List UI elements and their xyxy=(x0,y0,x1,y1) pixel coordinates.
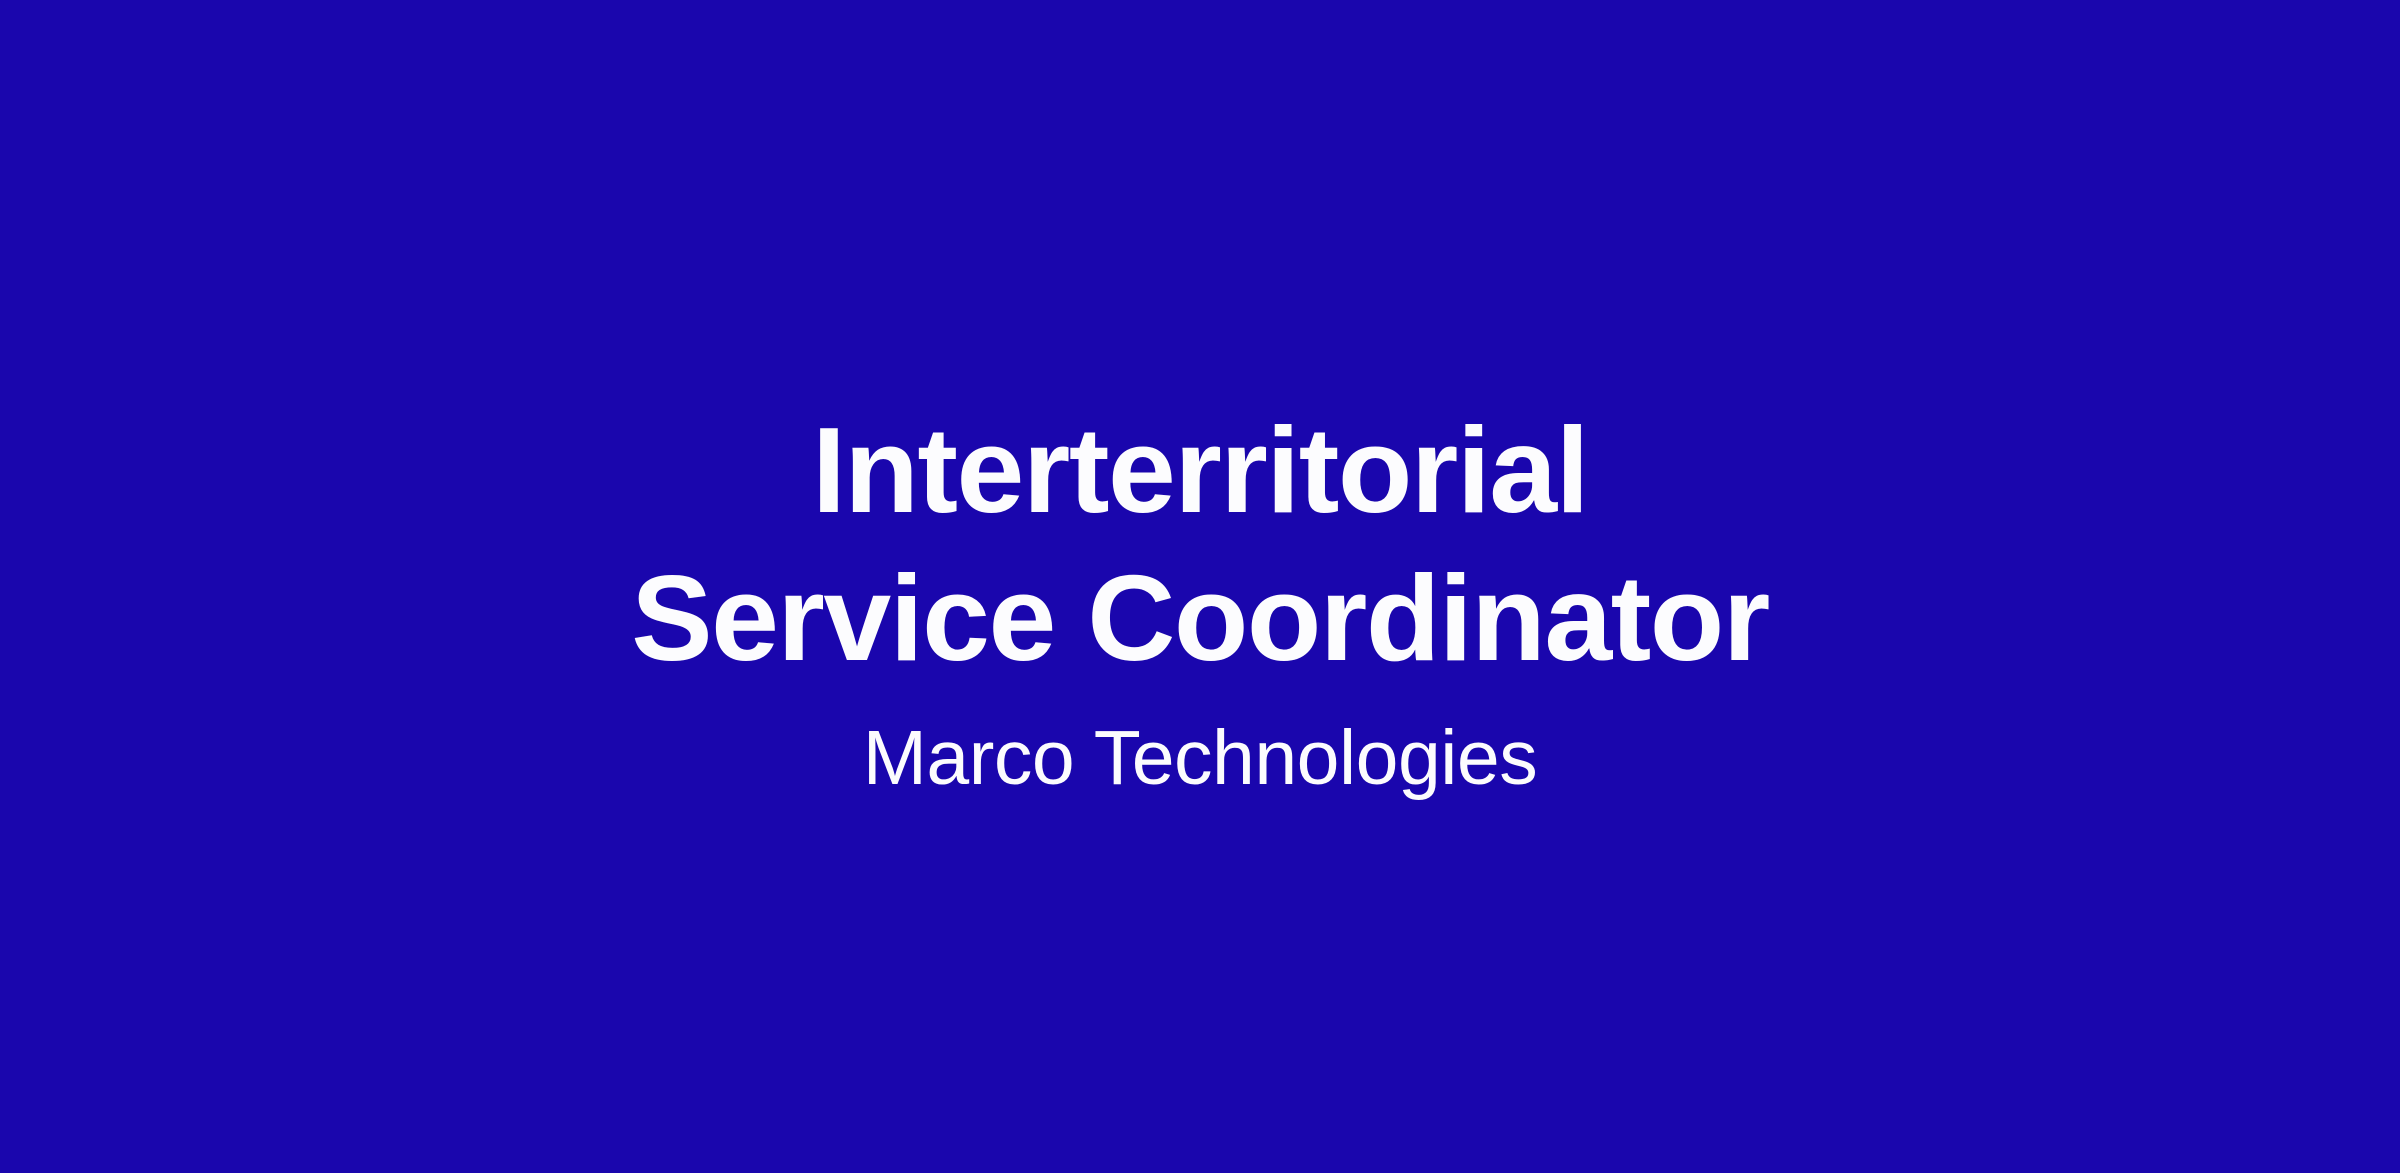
slide-content-block: Interterritorial Service Coordinator Mar… xyxy=(530,396,1870,804)
title-slide: Interterritorial Service Coordinator Mar… xyxy=(0,0,2400,1173)
slide-subtitle: Marco Technologies xyxy=(863,692,1537,804)
slide-title: Interterritorial Service Coordinator xyxy=(600,396,1800,692)
